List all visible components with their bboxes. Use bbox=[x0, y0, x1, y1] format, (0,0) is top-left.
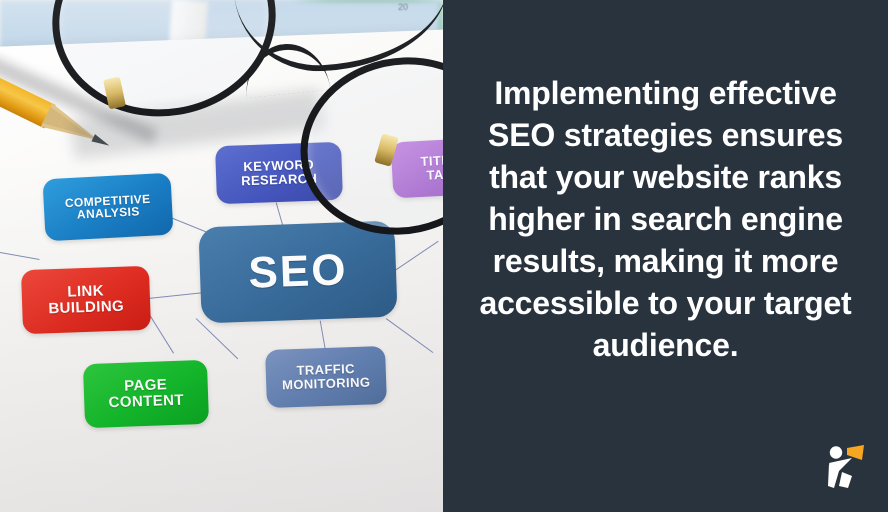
quote-text: Implementing effective SEO strategies en… bbox=[465, 72, 866, 366]
node-label-line2: BUILDING bbox=[48, 298, 124, 318]
figure-head-icon bbox=[830, 446, 842, 458]
seo-photo-panel: 20 COMPETITIVE ANALYSIS bbox=[0, 0, 443, 512]
node-label-seo: SEO bbox=[248, 247, 348, 296]
map-edge bbox=[392, 241, 439, 273]
promo-card: 20 COMPETITIVE ANALYSIS bbox=[0, 0, 888, 512]
node-label-line2: MONITORING bbox=[282, 374, 371, 392]
map-edge bbox=[147, 312, 174, 353]
brand-logo[interactable] bbox=[822, 442, 866, 490]
quote-panel: Implementing effective SEO strategies en… bbox=[443, 0, 888, 512]
map-edge bbox=[386, 318, 434, 353]
figure-leg-back-icon bbox=[839, 472, 852, 488]
mind-map-node-page-content: PAGE CONTENT bbox=[83, 360, 209, 428]
megaphone-icon bbox=[847, 445, 864, 460]
map-edge bbox=[196, 318, 239, 359]
mind-map-node-link-building: LINK BUILDING bbox=[21, 266, 151, 334]
map-edge bbox=[148, 292, 204, 299]
node-label-line2: CONTENT bbox=[108, 392, 184, 412]
eyeglasses bbox=[0, 0, 443, 240]
mind-map-node-traffic-monitoring: TRAFFIC MONITORING bbox=[265, 346, 387, 408]
map-edge bbox=[0, 252, 40, 260]
